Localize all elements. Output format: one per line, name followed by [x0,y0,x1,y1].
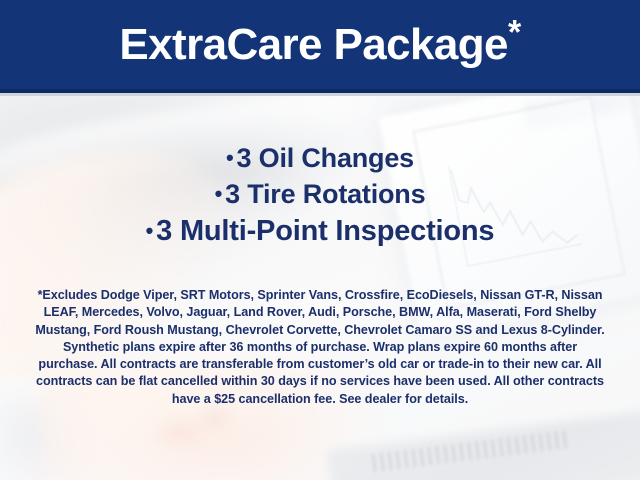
extracare-package-ad: ExtraCare Package* •3 Oil Changes •3 Tir… [0,0,640,480]
list-item-label: 3 Oil Changes [237,143,414,173]
list-item: •3 Multi-Point Inspections [0,212,640,250]
page-title-asterisk: * [508,13,521,51]
bullet-dot-icon: • [226,145,237,170]
benefits-list: •3 Oil Changes •3 Tire Rotations •3 Mult… [0,140,640,250]
header-underline [0,93,640,96]
list-item: •3 Oil Changes [0,140,640,176]
list-item: •3 Tire Rotations [0,176,640,212]
bullet-dot-icon: • [215,181,226,206]
disclaimer-text: *Excludes Dodge Viper, SRT Motors, Sprin… [34,287,606,408]
list-item-label: 3 Tire Rotations [225,179,425,209]
list-item-label: 3 Multi-Point Inspections [156,215,494,247]
page-title-text: ExtraCare Package [119,20,508,69]
bullet-dot-icon: • [146,218,157,243]
page-title: ExtraCare Package* [0,19,640,71]
